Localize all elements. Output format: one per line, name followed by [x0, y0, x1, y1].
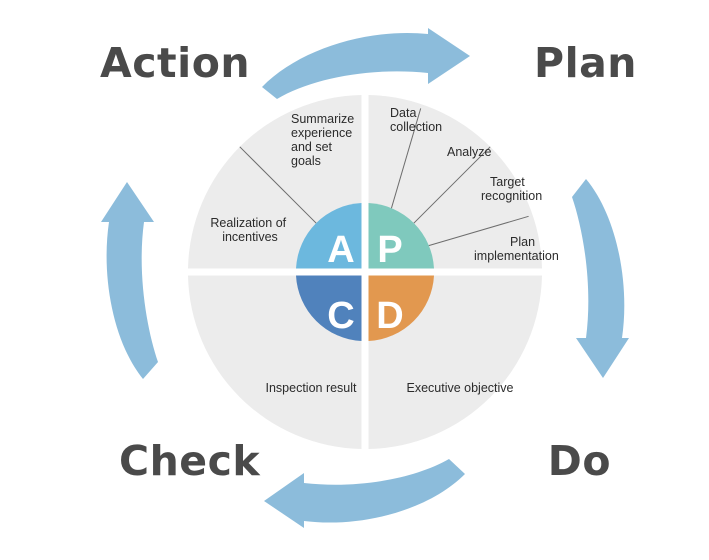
top-arrow-icon	[262, 28, 470, 99]
corner-label-plan: Plan	[534, 39, 637, 87]
bottom-arrow-icon	[264, 459, 465, 528]
spoke-label-analyze: Analyze	[447, 145, 492, 159]
right-arrow-icon	[572, 179, 629, 378]
quadrant-letter-plan: P	[377, 229, 402, 271]
quadrant-letter-action: A	[327, 229, 354, 271]
pdca-cycle-diagram: A P C D Data collection Analyze Target r…	[0, 0, 709, 560]
quadrant-letter-do: D	[376, 295, 403, 337]
label-executive-objective: Executive objective	[406, 381, 513, 395]
corner-label-do: Do	[548, 437, 611, 485]
left-arrow-icon	[101, 182, 158, 379]
label-inspection-result: Inspection result	[265, 381, 357, 395]
corner-label-check: Check	[119, 437, 261, 485]
spoke-label-target-recognition: Target recognition	[481, 175, 542, 203]
spoke-label-realization-of-incentives: Realization of incentives	[210, 216, 289, 244]
quadrant-letter-check: C	[327, 295, 354, 337]
diagram-canvas: A P C D Data collection Analyze Target r…	[0, 0, 709, 560]
corner-label-action: Action	[100, 39, 250, 87]
